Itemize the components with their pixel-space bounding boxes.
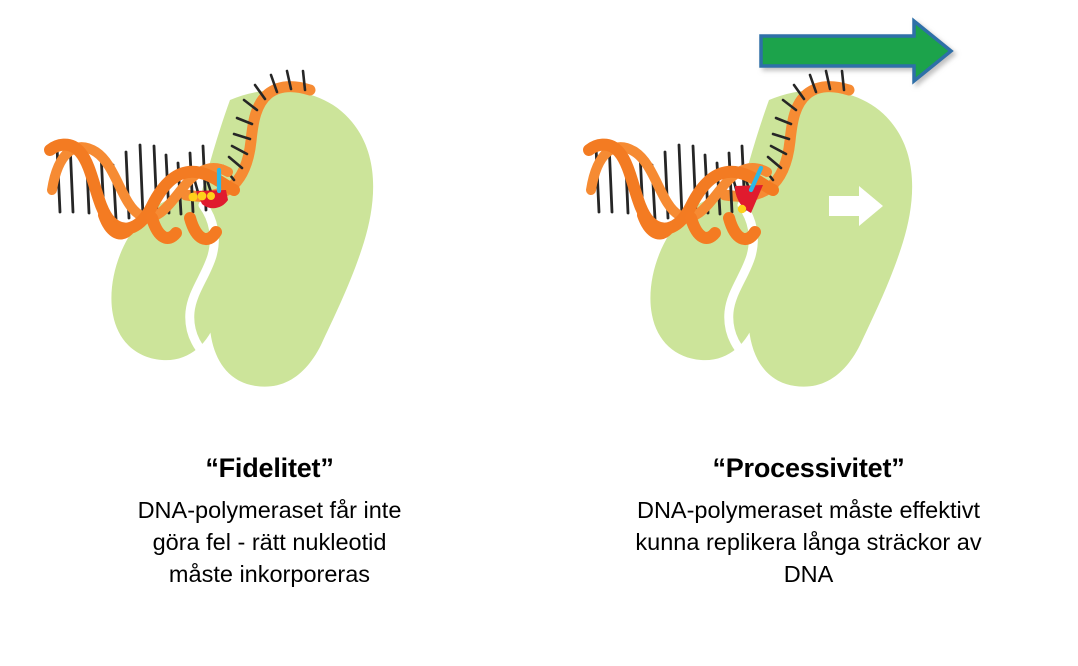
enzyme-blob-large-lobe [735,90,912,387]
caption-title: “Fidelitet” [0,448,539,488]
figure-processivity [539,0,1078,430]
slide-canvas: “Fidelitet” DNA-polymeraset får inte gör… [0,0,1078,666]
panel-fidelity: “Fidelitet” DNA-polymeraset får inte gör… [0,0,539,666]
green-motion-arrow [761,21,951,81]
caption-fidelity: “Fidelitet” DNA-polymeraset får inte gör… [0,448,539,590]
nucleotide-yellow-dot [198,192,207,201]
nucleotide-yellow-dot [207,192,215,200]
enzyme-blob [111,90,373,387]
nucleotide-yellow-dot [738,205,746,213]
caption-body: DNA-polymeraset får inte göra fel - rätt… [0,494,539,590]
enzyme-blob-large-lobe [196,90,373,387]
green-motion-arrow-shape [761,21,951,81]
panel-processivity: “Processivitet” DNA-polymeraset måste ef… [539,0,1078,666]
enzyme-blob [650,90,912,387]
figure-fidelity [0,0,539,430]
caption-body: DNA-polymeraset måste effektivt kunna re… [539,494,1078,590]
caption-title: “Processivitet” [539,448,1078,488]
nucleotide-yellow-dot [189,193,198,202]
caption-processivity: “Processivitet” DNA-polymeraset måste ef… [539,448,1078,590]
